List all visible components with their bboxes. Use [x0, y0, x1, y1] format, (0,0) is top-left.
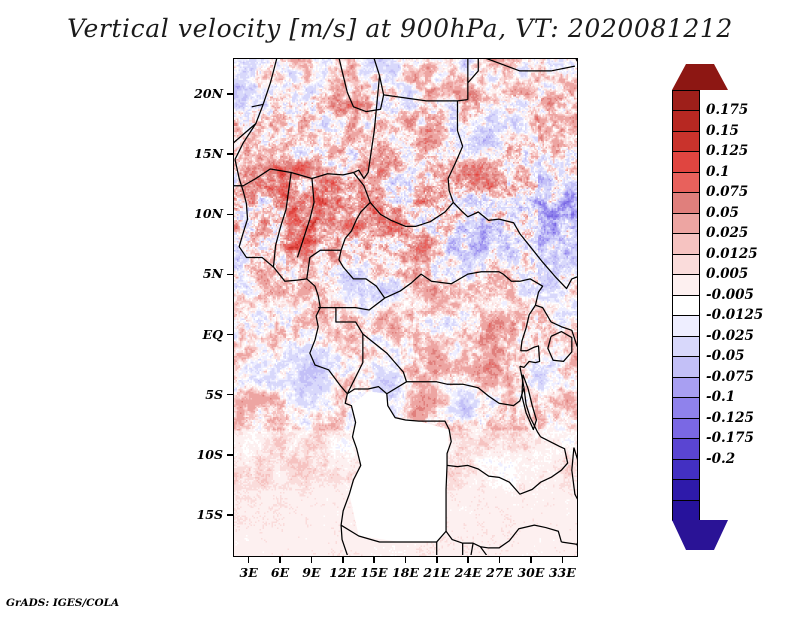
colorbar-tick-label: -0.1 [706, 389, 735, 405]
colorbar-tick-label: -0.075 [706, 369, 754, 385]
colorbar-swatch [672, 356, 700, 377]
border-line [406, 382, 524, 406]
y-axis-label: 15N [194, 146, 223, 161]
border-line [353, 76, 379, 179]
x-axis-tick [311, 557, 313, 563]
colorbar-swatch [672, 315, 700, 336]
colorbar-swatch [672, 90, 700, 111]
x-axis-tick [467, 557, 469, 563]
y-axis-tick [227, 394, 233, 396]
x-axis-tick [405, 557, 407, 563]
border-line [235, 159, 361, 555]
colorbar-tick-label: 0.0125 [706, 246, 758, 262]
x-axis-label: 33E [542, 565, 582, 580]
border-line [252, 104, 263, 106]
x-axis-tick [436, 557, 438, 563]
border-line [370, 202, 453, 226]
y-axis-tick [227, 454, 233, 456]
x-axis-tick [373, 557, 375, 563]
colorbar-swatch [672, 151, 700, 172]
y-axis-label: 10N [194, 206, 223, 221]
colorbar-tick-label: 0.025 [706, 225, 748, 241]
y-axis-label: EQ [203, 327, 223, 342]
colorbar-swatch [672, 438, 700, 459]
border-line [499, 219, 577, 288]
colorbar-tick-label: 0.075 [706, 184, 748, 200]
colorbar-top-arrow [672, 64, 728, 90]
border-line [297, 178, 314, 257]
colorbar-swatch [672, 500, 700, 521]
x-axis-tick [342, 557, 344, 563]
border-line [471, 543, 473, 555]
border-line [503, 274, 542, 305]
colorbar-swatch [672, 172, 700, 193]
border-line [307, 250, 341, 279]
y-axis-tick [227, 334, 233, 336]
border-line [478, 59, 575, 71]
border-line [318, 298, 385, 310]
border-line [572, 448, 577, 507]
y-axis-label: 20N [194, 86, 223, 101]
border-line [561, 504, 577, 545]
colorbar-swatch [672, 110, 700, 131]
colorbar-tick-label: -0.0125 [706, 307, 763, 323]
colorbar-swatch [672, 233, 700, 254]
border-line [273, 173, 291, 267]
y-axis-label: 5S [205, 387, 223, 402]
border-line [336, 308, 363, 394]
colorbar-swatch [672, 274, 700, 295]
border-line [535, 305, 577, 346]
page-title: Vertical velocity [m/s] at 900hPa, VT: 2… [0, 14, 800, 43]
x-axis-tick [248, 557, 250, 563]
colorbar-swatch [672, 254, 700, 275]
colorbar-tick-label: -0.125 [706, 410, 754, 426]
colorbar-swatch [672, 192, 700, 213]
colorbar-bottom-arrow [672, 520, 728, 550]
attribution-footer: GrADS: IGES/COLA [6, 597, 119, 609]
colorbar-swatch [672, 213, 700, 234]
x-axis-tick [562, 557, 564, 563]
y-axis-tick [227, 93, 233, 95]
border-line [468, 59, 478, 83]
colorbar-tick-label: 0.175 [706, 102, 748, 118]
y-axis-label: 5N [203, 266, 223, 281]
y-axis-tick [227, 514, 233, 516]
border-line [347, 334, 406, 394]
colorbar-swatch [672, 131, 700, 152]
border-line [235, 59, 277, 159]
border-line [385, 272, 504, 298]
border-line [548, 332, 572, 362]
border-line [384, 95, 468, 101]
colorbar-tick-label: -0.175 [706, 430, 754, 446]
colorbar-swatch [672, 418, 700, 439]
colorbar-swatch [672, 377, 700, 398]
colorbar-tick-label: -0.005 [706, 287, 754, 303]
border-line [234, 156, 353, 186]
y-axis-tick [227, 214, 233, 216]
x-axis-tick [499, 557, 501, 563]
colorbar-swatch [672, 479, 700, 500]
border-line [448, 146, 499, 220]
border-line [446, 465, 561, 548]
colorbar-tick-label: -0.05 [706, 348, 744, 364]
colorbar-tick-label: 0.1 [706, 164, 730, 180]
colorbar-swatch [672, 397, 700, 418]
colorbar-tick-label: -0.2 [706, 451, 735, 467]
colorbar-swatch [672, 295, 700, 316]
country-borders-overlay [234, 59, 577, 555]
colorbar-swatch [672, 336, 700, 357]
x-axis-tick [279, 557, 281, 563]
colorbar-tick-label: 0.005 [706, 266, 748, 282]
y-axis-tick [227, 153, 233, 155]
colorbar-swatch [672, 459, 700, 480]
border-line [339, 173, 385, 299]
y-axis-tick [227, 274, 233, 276]
colorbar-tick-label: -0.025 [706, 328, 754, 344]
map-plot-area [233, 58, 578, 557]
y-axis-label: 10S [197, 447, 223, 462]
border-line [520, 346, 540, 367]
colorbar: 0.1750.150.1250.10.0750.050.0250.01250.0… [668, 58, 800, 560]
southern-landmass-fill [349, 391, 449, 542]
border-line [522, 375, 537, 430]
border-line [576, 59, 577, 145]
colorbar-tick-label: 0.05 [706, 205, 739, 221]
x-axis-tick [530, 557, 532, 563]
colorbar-tick-label: 0.125 [706, 143, 748, 159]
colorbar-tick-label: 0.15 [706, 123, 739, 139]
border-line [457, 101, 462, 146]
border-line [521, 305, 536, 350]
y-axis-label: 15S [197, 507, 223, 522]
